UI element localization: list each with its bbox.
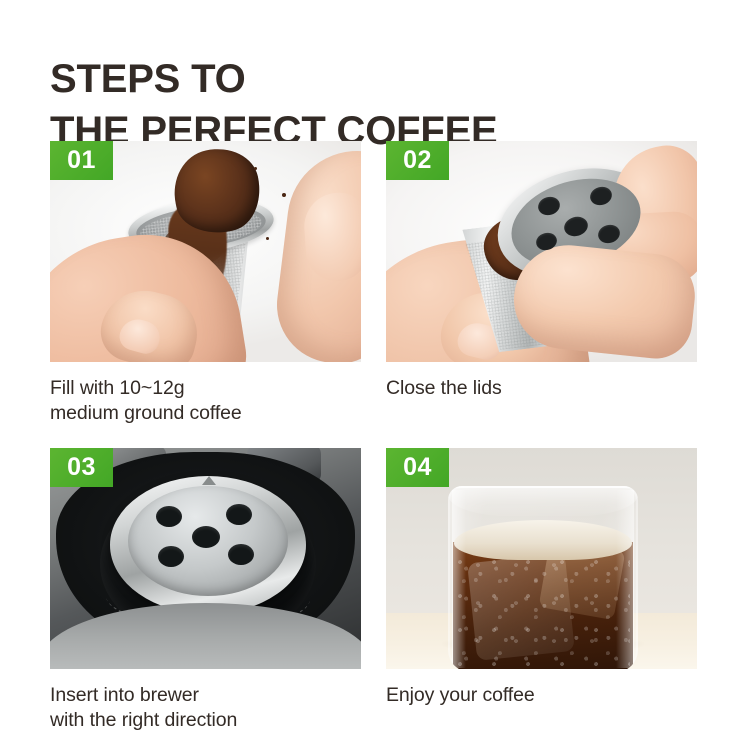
coffee-speck: [282, 193, 286, 197]
lid-hole: [158, 546, 184, 567]
step-caption-03-line-1: Insert into brewer: [50, 683, 361, 708]
glass-highlight-right: [616, 490, 634, 668]
step-caption-01: Fill with 10~12g medium ground coffee: [50, 376, 361, 427]
step-caption-03: Insert into brewer with the right direct…: [50, 683, 361, 734]
alignment-arrow-icon: [202, 476, 216, 485]
step-caption-01-line-2: medium ground coffee: [50, 401, 361, 426]
step-card-03: 03 Insert into brewer with the right dir…: [50, 448, 361, 734]
lid-hole: [228, 544, 254, 565]
step-badge-02: 02: [386, 141, 449, 180]
infographic-page: STEPS TO THE PERFECT COFFEE: [0, 0, 750, 750]
coffee-speck: [254, 167, 257, 170]
step-photo-03: 03: [50, 448, 361, 669]
step-photo-04: 04: [386, 448, 697, 669]
steps-grid: 01 Fill with 10~12g medium ground coffee: [50, 141, 698, 733]
step-caption-03-line-2: with the right direction: [50, 708, 361, 733]
lid-hole: [226, 504, 252, 525]
page-title-line-1: STEPS TO: [50, 53, 710, 105]
glass-rim: [448, 486, 638, 516]
step-caption-04-line-1: Enjoy your coffee: [386, 683, 697, 708]
step-caption-04: Enjoy your coffee: [386, 683, 697, 708]
steps-row-bottom: 03 Insert into brewer with the right dir…: [50, 448, 698, 734]
step-badge-03: 03: [50, 448, 113, 487]
step-caption-01-line-1: Fill with 10~12g: [50, 376, 361, 401]
iced-coffee-glass: [448, 486, 638, 669]
steps-row-top: 01 Fill with 10~12g medium ground coffee: [50, 141, 698, 427]
step-photo-01: 01: [50, 141, 361, 362]
step-caption-02: Close the lids: [386, 376, 697, 401]
step-card-04: 04 Enjoy your coffee: [386, 448, 697, 734]
step-badge-01: 01: [50, 141, 113, 180]
lid-hole: [156, 506, 182, 527]
step-photo-02: 02: [386, 141, 697, 362]
step-badge-04: 04: [386, 448, 449, 487]
coffee-crema-foam: [454, 520, 632, 560]
lid-hole: [192, 526, 220, 548]
glass-highlight-left: [452, 490, 466, 668]
condensation-droplets: [456, 556, 630, 666]
step-card-02: 02 Close the lids: [386, 141, 697, 427]
step-caption-02-line-1: Close the lids: [386, 376, 697, 401]
step-card-01: 01 Fill with 10~12g medium ground coffee: [50, 141, 361, 427]
coffee-speck: [266, 237, 269, 240]
